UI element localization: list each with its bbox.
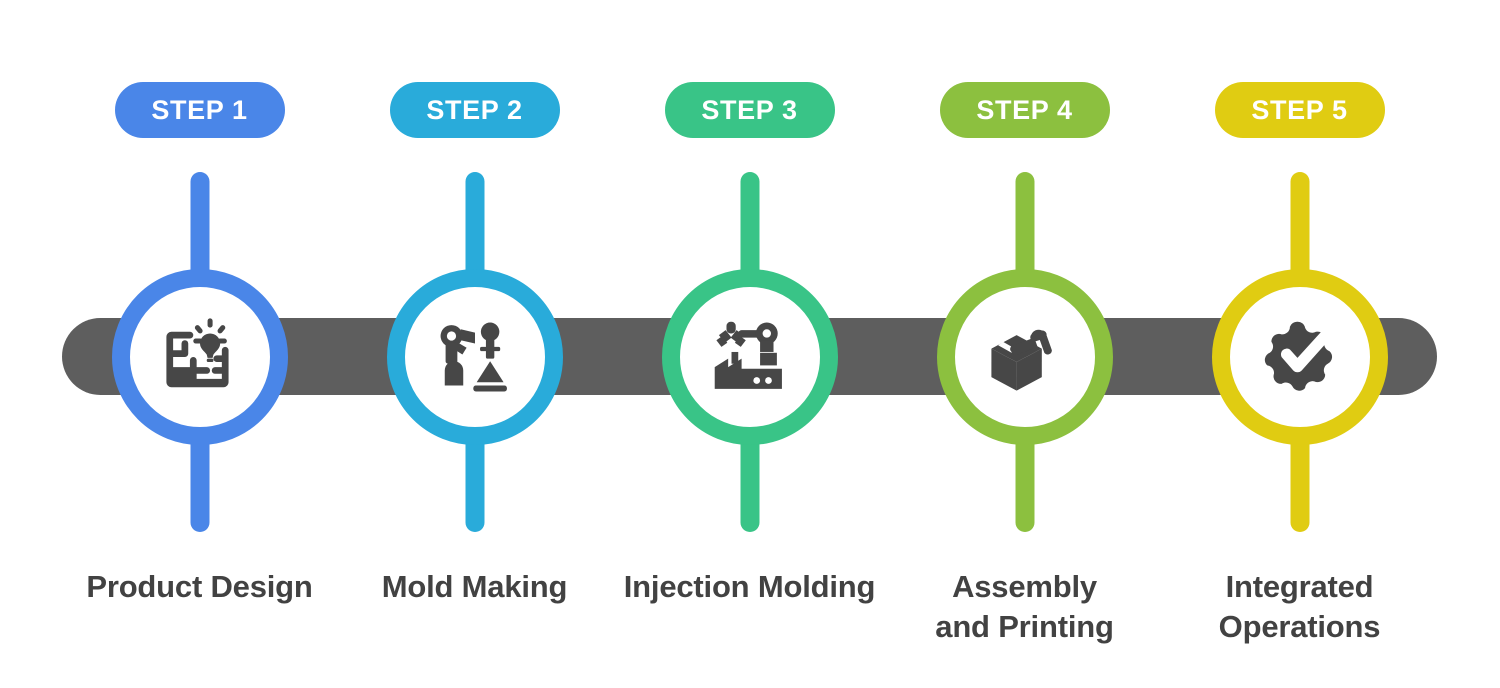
step-caption-4: Assembly and Printing (890, 567, 1160, 646)
step-caption-1: Product Design (65, 567, 335, 607)
step-caption-5: Integrated Operations (1165, 567, 1435, 646)
blueprint-lightbulb-icon (158, 315, 242, 399)
process-step-3[interactable]: STEP 3 (612, 0, 887, 688)
gear-check-icon (1258, 315, 1342, 399)
step-icon-circle-5[interactable] (1212, 269, 1388, 445)
factory-robot-icon (708, 315, 792, 399)
process-step-4[interactable]: STEP 4 Assembly and Printing (887, 0, 1162, 688)
step-caption-3: Injection Molding (615, 567, 885, 607)
step-caption-2: Mold Making (340, 567, 610, 607)
step-icon-circle-3[interactable] (662, 269, 838, 445)
box-robot-arm-icon (983, 315, 1067, 399)
robot-arm-mold-icon (433, 315, 517, 399)
process-step-1[interactable]: STEP 1 Product Des (62, 0, 337, 688)
step-icon-circle-2[interactable] (387, 269, 563, 445)
step-badge-1[interactable]: STEP 1 (115, 82, 285, 138)
step-badge-label-5: STEP 5 (1251, 97, 1347, 124)
step-badge-4[interactable]: STEP 4 (940, 82, 1110, 138)
process-steps-infographic: STEP 1 Product Des (0, 0, 1500, 688)
process-step-5[interactable]: STEP 5 Integrated Operations (1162, 0, 1437, 688)
step-badge-5[interactable]: STEP 5 (1215, 82, 1385, 138)
step-badge-label-1: STEP 1 (151, 97, 247, 124)
step-icon-circle-4[interactable] (937, 269, 1113, 445)
step-badge-2[interactable]: STEP 2 (390, 82, 560, 138)
step-badge-3[interactable]: STEP 3 (665, 82, 835, 138)
step-badge-label-3: STEP 3 (701, 97, 797, 124)
step-icon-circle-1[interactable] (112, 269, 288, 445)
step-badge-label-2: STEP 2 (426, 97, 522, 124)
process-step-2[interactable]: STEP 2 (337, 0, 612, 688)
step-badge-label-4: STEP 4 (976, 97, 1072, 124)
